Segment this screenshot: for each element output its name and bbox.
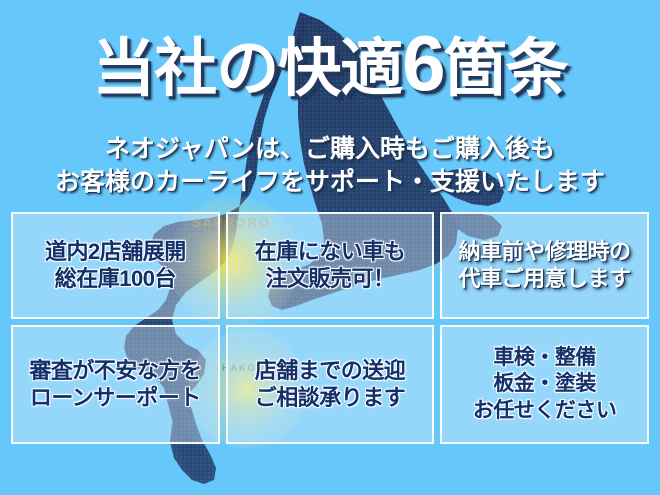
feature-box-order-sales: 在庫にない車も 注文販売可！ — [226, 212, 435, 319]
headline-text-after: 箇条 — [444, 34, 568, 104]
feature-line: ご相談承ります — [255, 385, 406, 412]
feature-line: 総在庫100台 — [55, 266, 176, 293]
feature-line: 審査が不安な方を — [29, 358, 201, 385]
headline-number: 6 — [402, 19, 443, 107]
feature-line: 道内2店舗展開 — [45, 239, 186, 266]
feature-line: 注文販売可！ — [265, 266, 394, 293]
feature-box-pickup-service: 店舗までの送迎 ご相談承ります — [226, 325, 435, 444]
feature-line: 店舗までの送迎 — [255, 358, 406, 385]
feature-line: ローンサーポート — [30, 385, 201, 412]
feature-box-grid: 道内2店舗展開 総在庫100台 在庫にない車も 注文販売可！ 納車前や修理時の … — [11, 212, 649, 444]
feature-line: 代車ご用意します — [459, 266, 631, 293]
feature-line: 在庫にない車も — [255, 239, 406, 266]
subtitle-line-2: お客様のカーライフをサポート・支援いたします — [0, 166, 660, 199]
page-title: 当社の快適6箇条 — [0, 24, 660, 102]
feature-box-inspection-bodywork: 車検・整備 板金・塗装 お任せください — [440, 325, 649, 444]
headline-text-before: 当社の快適 — [92, 34, 402, 104]
feature-box-loaner-car: 納車前や修理時の 代車ご用意します — [440, 212, 649, 319]
subtitle-line-1: ネオジャパンは、ご購入時もご購入後も — [0, 133, 660, 166]
feature-box-loan-support: 審査が不安な方を ローンサーポート — [11, 325, 220, 444]
feature-line: 車検・整備 — [493, 345, 596, 371]
feature-line: お任せください — [473, 398, 617, 424]
promo-banner: SAPPORO HAKODATE 当社の快適6箇条 ネオジャパンは、ご購入時もご… — [0, 0, 660, 495]
subtitle: ネオジャパンは、ご購入時もご購入後も お客様のカーライフをサポート・支援いたしま… — [0, 133, 660, 198]
feature-line: 板金・塗装 — [493, 371, 596, 397]
feature-box-stores: 道内2店舗展開 総在庫100台 — [11, 212, 220, 319]
feature-line: 納車前や修理時の — [459, 239, 631, 266]
